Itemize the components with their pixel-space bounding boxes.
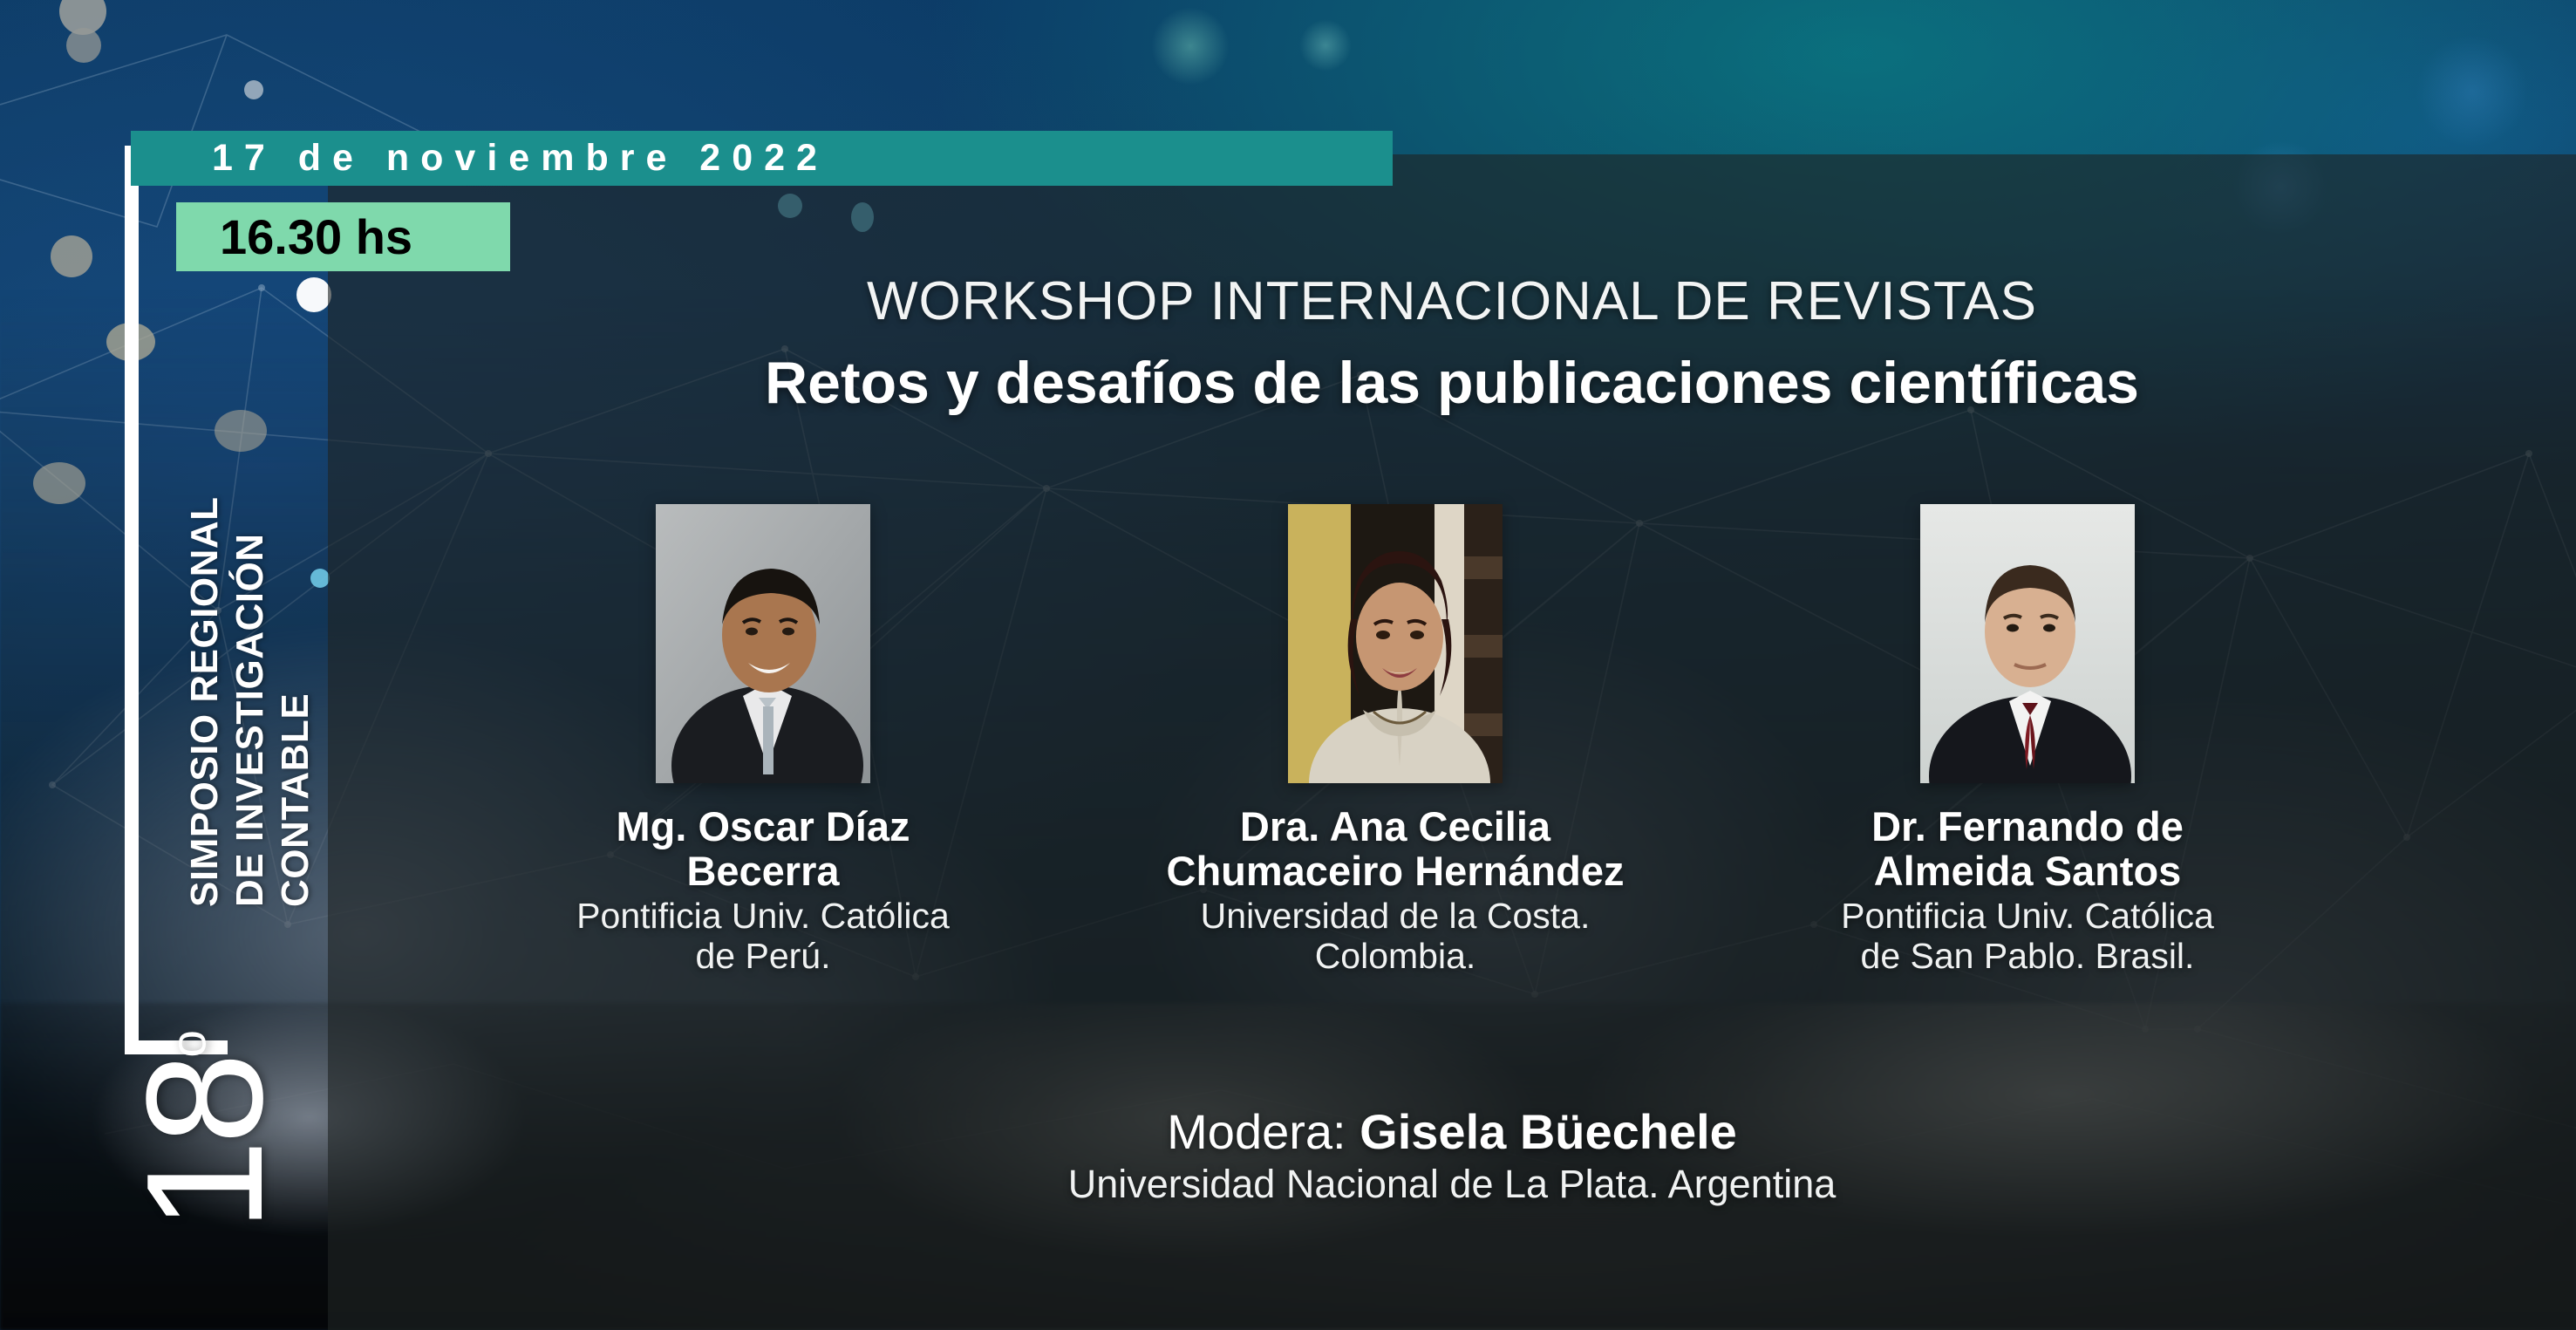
speaker-affiliation-line: Pontificia Univ. Católica	[1841, 897, 2214, 936]
speaker-name: Dr. Fernando de Almeida Santos	[1871, 804, 2184, 893]
speaker-affiliation-line: Pontificia Univ. Católica	[576, 897, 950, 936]
speaker-name: Mg. Oscar Díaz Becerra	[617, 804, 910, 893]
moderator-prefix: Modera:	[1167, 1104, 1360, 1159]
speaker-portrait	[656, 504, 870, 783]
moderator-block: Modera: Gisela Büechele Universidad Naci…	[328, 1103, 2576, 1207]
edition-number-value: 18	[112, 1058, 297, 1231]
event-time-label: 16.30 hs	[220, 208, 412, 265]
speaker-card: Dr. Fernando de Almeida Santos Pontifici…	[1753, 504, 2302, 976]
edition-number: 18o	[122, 1030, 288, 1231]
moderator-name: Gisela Büechele	[1360, 1104, 1737, 1159]
speaker-portrait	[1288, 504, 1503, 783]
speaker-name-line: Mg. Oscar Díaz	[617, 804, 910, 849]
poster-canvas: SIMPOSIO REGIONAL DE INVESTIGACIÓN CONTA…	[0, 0, 2576, 1330]
event-date-banner: 17 de noviembre 2022	[131, 131, 1393, 186]
speakers-row: Mg. Oscar Díaz Becerra Pontificia Univ. …	[488, 504, 2302, 1027]
speaker-affiliation: Pontificia Univ. Católica de San Pablo. …	[1841, 897, 2214, 975]
event-time-banner: 16.30 hs	[176, 202, 510, 271]
speaker-name-line: Almeida Santos	[1871, 849, 2184, 893]
speaker-affiliation: Pontificia Univ. Católica de Perú.	[576, 897, 950, 975]
speaker-name-line: Dr. Fernando de	[1871, 804, 2184, 849]
branding-line-de-investigacion: DE INVESTIGACIÓN	[228, 534, 272, 908]
speaker-affiliation: Universidad de la Costa. Colombia.	[1201, 897, 1591, 975]
speaker-name-line: Becerra	[617, 849, 910, 893]
branding-line-contable: CONTABLE	[274, 693, 317, 907]
moderator-affiliation: Universidad Nacional de La Plata. Argent…	[328, 1162, 2576, 1207]
branding-line-simposio-regional: SIMPOSIO REGIONAL	[183, 496, 227, 907]
speaker-affiliation-line: de Perú.	[576, 937, 950, 976]
speaker-name-line: Dra. Ana Cecilia	[1167, 804, 1625, 849]
event-date-label: 17 de noviembre 2022	[212, 137, 828, 180]
workshop-kicker: WORKSHOP INTERNACIONAL DE REVISTAS	[328, 270, 2576, 332]
moderator-line: Modera: Gisela Büechele	[328, 1103, 2576, 1160]
speaker-affiliation-line: Universidad de la Costa.	[1201, 897, 1591, 936]
speaker-card: Dra. Ana Cecilia Chumaceiro Hernández Un…	[1121, 504, 1670, 976]
speaker-portrait	[1920, 504, 2135, 783]
edition-ordinal-mark: o	[161, 1030, 217, 1058]
workshop-headline: Retos y desafíos de las publicaciones ci…	[328, 349, 2576, 417]
speaker-name-line: Chumaceiro Hernández	[1167, 849, 1625, 893]
branding-bracket	[125, 160, 139, 1040]
speaker-affiliation-line: Colombia.	[1201, 937, 1591, 976]
speaker-card: Mg. Oscar Díaz Becerra Pontificia Univ. …	[488, 504, 1038, 976]
speaker-name: Dra. Ana Cecilia Chumaceiro Hernández	[1167, 804, 1625, 893]
speaker-affiliation-line: de San Pablo. Brasil.	[1841, 937, 2214, 976]
